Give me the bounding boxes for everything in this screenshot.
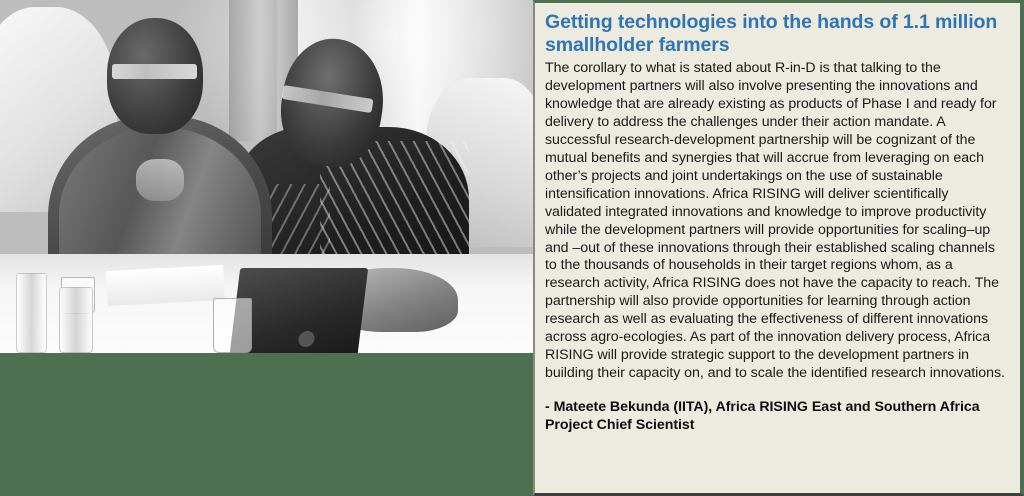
laptop-logo-icon bbox=[297, 331, 315, 347]
quote-poster: Getting technologies into the hands of 1… bbox=[0, 0, 1024, 496]
left-column bbox=[0, 0, 533, 496]
panel-body-text: The corollary to what is stated about R-… bbox=[545, 60, 1006, 383]
panel-attribution: - Mateete Bekunda (IITA), Africa RISING … bbox=[545, 398, 1006, 434]
person-woman-eyeglasses-icon bbox=[112, 64, 197, 80]
quote-panel: Getting technologies into the hands of 1… bbox=[533, 0, 1024, 496]
drinking-glass-right-icon bbox=[213, 298, 252, 353]
person-woman-neck bbox=[136, 159, 184, 201]
green-accent-block bbox=[0, 353, 533, 496]
panel-title: Getting technologies into the hands of 1… bbox=[545, 11, 1006, 57]
water-bottle-one-icon bbox=[16, 273, 47, 353]
paper-documents-icon bbox=[106, 265, 225, 306]
water-bottle-two-icon bbox=[59, 287, 93, 353]
meeting-photograph bbox=[0, 0, 533, 353]
